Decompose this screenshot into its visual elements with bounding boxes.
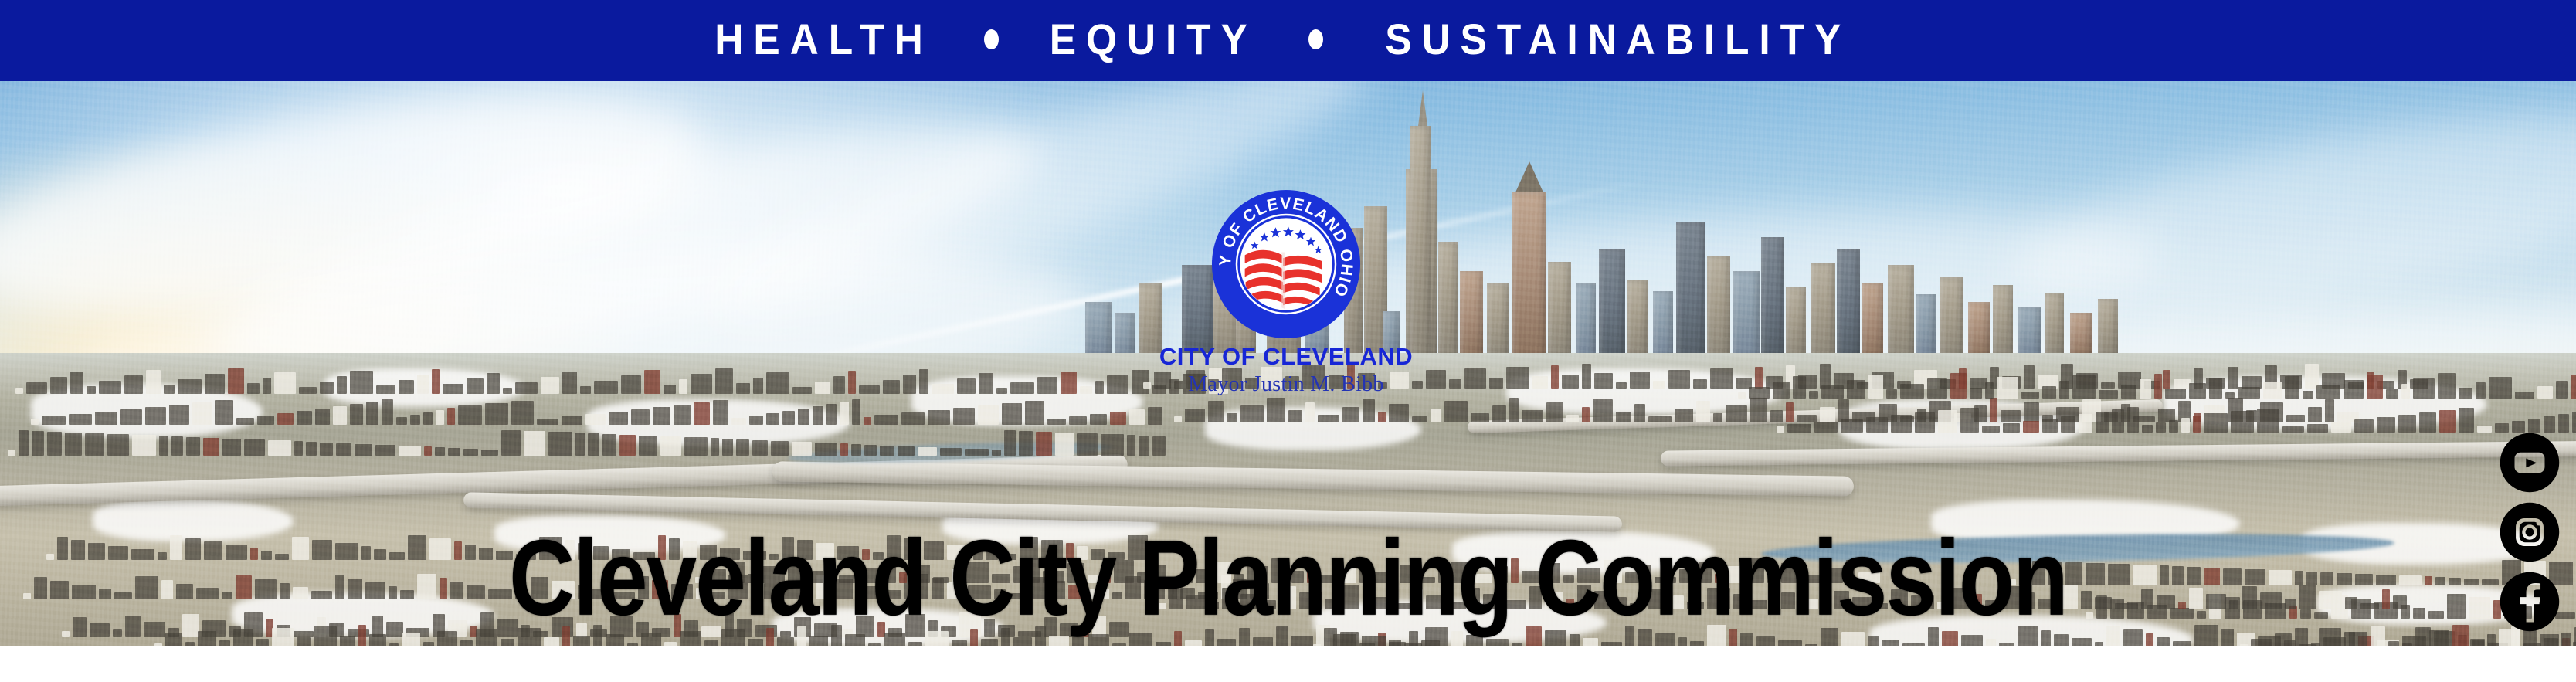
building-block xyxy=(1713,413,1722,422)
building-block xyxy=(1077,433,1098,456)
building xyxy=(1599,249,1625,358)
building-block xyxy=(2257,409,2279,433)
building-block xyxy=(2157,637,2170,646)
building-block xyxy=(2377,417,2395,433)
building-block xyxy=(992,450,1001,456)
building-block xyxy=(294,441,303,456)
building-block xyxy=(2459,388,2472,399)
building-block xyxy=(562,416,582,425)
building-block xyxy=(1152,436,1166,456)
building-block xyxy=(2512,421,2525,433)
building-block xyxy=(432,369,440,394)
building-block xyxy=(2112,409,2124,433)
building-block xyxy=(463,449,478,456)
building-block xyxy=(1938,410,1957,433)
building-block xyxy=(1668,370,1690,389)
highway xyxy=(772,461,1854,497)
building-block xyxy=(99,381,121,394)
city-of-cleveland-seal-icon: CITY OF CLEVELAND OHIO xyxy=(1211,189,1361,339)
building-block xyxy=(1047,419,1066,425)
building-block xyxy=(782,411,795,425)
building-block xyxy=(771,441,789,456)
social-media-rail xyxy=(2499,433,2561,632)
building-block xyxy=(1738,392,1746,399)
building-block xyxy=(619,435,636,456)
facebook-icon[interactable] xyxy=(2500,572,2560,632)
building-block xyxy=(2344,380,2364,399)
building-block xyxy=(222,439,241,456)
building-block xyxy=(1546,402,1563,422)
city-of-cleveland-logo[interactable]: CITY OF CLEVELAND OHIO xyxy=(1016,189,1556,397)
building-block xyxy=(1886,389,1897,399)
building-block xyxy=(1522,410,1543,422)
building-block xyxy=(1139,436,1149,456)
building-block xyxy=(594,381,618,394)
building-block xyxy=(928,410,950,425)
building-block xyxy=(602,434,616,456)
building-block xyxy=(424,446,432,456)
building-block xyxy=(2285,376,2299,399)
building-block xyxy=(2181,418,2190,433)
building-block xyxy=(953,408,975,425)
building-block xyxy=(2127,407,2139,433)
building-block xyxy=(169,405,189,425)
building-block xyxy=(766,372,789,394)
building-block xyxy=(2099,390,2118,399)
building-block xyxy=(2204,413,2228,433)
instagram-icon[interactable] xyxy=(2500,502,2560,562)
logo-mayor-line: Mayor Justin M. Bibb xyxy=(1016,373,1556,397)
building xyxy=(1968,302,1990,358)
building-block xyxy=(813,406,823,425)
building-block xyxy=(1227,413,1237,422)
building xyxy=(1916,294,1936,358)
building-block xyxy=(2495,423,2509,433)
building-block xyxy=(501,430,521,456)
building-block xyxy=(2402,636,2426,646)
building-block xyxy=(840,402,849,425)
building-block xyxy=(1866,417,1888,433)
building-block xyxy=(919,369,928,394)
building-block xyxy=(2072,375,2096,399)
building-block xyxy=(120,409,142,425)
building-block xyxy=(1240,405,1264,422)
building-block xyxy=(1915,412,1935,433)
building-block xyxy=(903,375,916,394)
building-block xyxy=(236,418,254,425)
building xyxy=(1993,285,2013,358)
building-block xyxy=(1471,413,1489,422)
building-block xyxy=(1653,381,1665,389)
building-block xyxy=(1148,407,1162,425)
building-block xyxy=(70,372,83,394)
building-block xyxy=(417,375,429,394)
building-block xyxy=(2558,414,2569,433)
building-block xyxy=(2459,408,2474,433)
building-block xyxy=(2561,633,2571,646)
building xyxy=(2045,293,2064,358)
building-block xyxy=(350,371,373,394)
building-block xyxy=(2146,633,2153,646)
building-block xyxy=(749,416,763,425)
building-block xyxy=(580,386,591,394)
building xyxy=(1576,283,1596,358)
building xyxy=(2018,307,2041,358)
building-block xyxy=(932,384,954,394)
building-block xyxy=(1318,415,1339,422)
building-block xyxy=(1217,639,1236,646)
building-block xyxy=(748,639,763,646)
building-block xyxy=(979,373,993,394)
building-block xyxy=(864,445,877,456)
building-block xyxy=(2251,639,2272,646)
building xyxy=(2098,299,2118,358)
building-block xyxy=(1749,387,1770,399)
building-block xyxy=(1696,401,1710,422)
building-block xyxy=(306,442,317,456)
building xyxy=(1940,277,1963,358)
building-block xyxy=(268,440,291,456)
building-block xyxy=(833,376,845,394)
building-block xyxy=(1185,409,1205,422)
building-block xyxy=(1174,416,1182,422)
building-block xyxy=(2537,386,2553,399)
building-block xyxy=(244,439,265,456)
building-block xyxy=(1389,404,1409,422)
building-block xyxy=(2303,391,2313,399)
building-block xyxy=(753,378,763,394)
building-block xyxy=(752,440,768,456)
building-block xyxy=(2140,379,2151,399)
building-block xyxy=(435,447,445,456)
building-block xyxy=(981,639,998,646)
building-block xyxy=(333,406,347,425)
building xyxy=(1627,280,1648,358)
building-block xyxy=(501,639,514,646)
neighborhood-block-row xyxy=(1738,373,2576,399)
building-block xyxy=(674,405,691,425)
building-block xyxy=(2079,414,2092,433)
building xyxy=(1837,249,1860,358)
building-block xyxy=(713,400,728,425)
building-block xyxy=(1509,398,1519,422)
building-block xyxy=(965,449,989,456)
building-block xyxy=(1305,402,1315,422)
building-block xyxy=(792,442,812,456)
building-block xyxy=(2571,375,2576,399)
building-block xyxy=(458,405,482,425)
building-block xyxy=(694,402,710,425)
building-block xyxy=(26,382,47,394)
building-block xyxy=(1582,364,1591,389)
building-block xyxy=(164,385,175,394)
building-block xyxy=(2156,422,2166,433)
building-block xyxy=(684,437,708,456)
building-block xyxy=(1814,422,1838,433)
building-block xyxy=(320,443,333,456)
building-block xyxy=(447,408,455,425)
building-block xyxy=(2096,412,2109,433)
building-block xyxy=(165,633,182,646)
building-block xyxy=(1927,378,1947,399)
building-block xyxy=(1129,409,1145,425)
building-block xyxy=(1486,639,1509,646)
building-block xyxy=(1363,399,1375,422)
building-block xyxy=(679,379,687,394)
building-block xyxy=(631,409,650,425)
building-block xyxy=(1090,414,1107,425)
building-block xyxy=(2367,375,2383,399)
building-block xyxy=(898,446,915,456)
building-block xyxy=(2142,425,2153,433)
building-block xyxy=(1253,637,1273,646)
building-block xyxy=(2193,416,2201,433)
building-block xyxy=(320,382,334,394)
building-block xyxy=(2059,381,2069,399)
building-block xyxy=(1950,373,1967,399)
building-block xyxy=(2021,392,2039,399)
youtube-icon[interactable] xyxy=(2500,433,2560,493)
building-block xyxy=(340,636,355,646)
building-block xyxy=(315,409,330,425)
building-block xyxy=(1208,401,1224,422)
building-block xyxy=(1726,405,1747,422)
building-block xyxy=(171,436,183,456)
building-block xyxy=(978,405,999,425)
building-block xyxy=(1960,408,1979,433)
building xyxy=(1862,283,1883,358)
building-block xyxy=(31,419,39,425)
building-block xyxy=(277,413,294,425)
building-block xyxy=(2282,426,2304,433)
building-block xyxy=(731,418,746,425)
building-block xyxy=(1634,404,1645,422)
hero-banner: CITY OF CLEVELAND OHIO xyxy=(0,81,2576,646)
building-block xyxy=(792,387,812,394)
building-block xyxy=(1793,376,1806,399)
building-block xyxy=(541,377,559,394)
building-block xyxy=(2121,385,2136,399)
dot-separator-icon xyxy=(1308,29,1323,49)
building-block xyxy=(1389,640,1401,646)
building-block xyxy=(402,633,420,646)
building-block xyxy=(1594,373,1613,389)
building-block xyxy=(124,375,143,394)
building-block xyxy=(2323,637,2346,646)
building-block xyxy=(548,432,572,456)
building-block xyxy=(42,416,66,425)
building-block xyxy=(1004,430,1016,456)
building-block xyxy=(1773,382,1790,399)
building-block xyxy=(852,399,860,425)
building-block xyxy=(263,378,271,394)
building-block xyxy=(2275,633,2292,646)
building-block xyxy=(257,416,274,425)
building-block xyxy=(575,433,585,456)
building-block xyxy=(146,370,161,394)
building-block xyxy=(2413,378,2435,399)
building-block xyxy=(186,437,200,456)
building-block xyxy=(544,637,559,646)
building-block xyxy=(1675,409,1693,422)
building-block xyxy=(777,637,794,646)
building-block xyxy=(2263,382,2282,399)
building-block xyxy=(1582,407,1590,422)
building-block xyxy=(436,410,444,425)
building xyxy=(2070,313,2092,358)
building-block xyxy=(19,430,29,456)
building-block xyxy=(8,450,15,456)
page-title: Cleveland City Planning Commission xyxy=(0,524,2576,632)
tagline-bar: HEALTH EQUITY SUSTAINABILITY xyxy=(0,0,2576,81)
building-block xyxy=(588,433,599,456)
building-block xyxy=(2042,419,2058,433)
building-block xyxy=(2401,384,2410,399)
terminal-tower-spire xyxy=(1418,90,1427,126)
building-block xyxy=(369,634,386,646)
key-tower-peak xyxy=(1515,161,1543,192)
building-block xyxy=(2556,381,2568,399)
building-block xyxy=(1710,368,1733,389)
building-block xyxy=(1444,401,1468,422)
neighborhood-block-row xyxy=(1777,407,2576,433)
building-block xyxy=(503,388,512,394)
building-block xyxy=(1013,637,1032,646)
building-block xyxy=(350,404,363,425)
building-block xyxy=(2439,410,2456,433)
tagline-word-sustainability: SUSTAINABILITY xyxy=(1385,18,1851,61)
building-block xyxy=(639,436,657,456)
building-block xyxy=(2489,377,2512,399)
building-block xyxy=(957,378,976,394)
building-block xyxy=(1693,379,1707,389)
building-block xyxy=(585,414,606,425)
building-block xyxy=(159,436,168,456)
building-block xyxy=(2472,640,2484,646)
highway-ramp xyxy=(1661,440,2576,466)
building-block xyxy=(1492,405,1506,422)
building-block xyxy=(996,388,1007,394)
building-block xyxy=(1841,419,1863,433)
building-block xyxy=(396,417,407,425)
building-block xyxy=(203,438,219,456)
building-block xyxy=(437,631,457,646)
building-block xyxy=(1583,638,1598,646)
building-block xyxy=(336,443,351,456)
building-block xyxy=(798,409,809,425)
tagline-word-health: HEALTH xyxy=(714,18,932,61)
building-block xyxy=(65,433,82,456)
building-block xyxy=(256,639,269,646)
building-block xyxy=(815,382,830,394)
building-block xyxy=(691,374,712,394)
building-block xyxy=(399,446,421,456)
building-block xyxy=(228,368,244,394)
building-block xyxy=(1821,385,1844,399)
building-block xyxy=(880,446,894,456)
building-block xyxy=(2354,419,2374,433)
building-block xyxy=(562,372,577,394)
building-block xyxy=(2349,632,2367,646)
building-block xyxy=(722,439,733,456)
building-block xyxy=(2487,634,2496,646)
building-block xyxy=(1002,403,1022,425)
building-block xyxy=(423,412,433,425)
building-block xyxy=(487,373,500,394)
building-block xyxy=(537,419,558,425)
building-block xyxy=(132,435,156,456)
building-block xyxy=(1127,435,1135,456)
building-block xyxy=(32,431,44,456)
building-block xyxy=(399,380,414,394)
building-block xyxy=(952,640,967,646)
building-block xyxy=(1678,637,1687,646)
building-block xyxy=(2398,415,2416,433)
building-block xyxy=(1616,382,1627,389)
building-block xyxy=(711,438,719,456)
building-block xyxy=(1750,398,1767,422)
building-block xyxy=(2429,630,2449,646)
building-block xyxy=(1101,434,1124,456)
building-block xyxy=(1378,412,1386,422)
building-block xyxy=(826,404,837,425)
building-block xyxy=(1630,372,1650,389)
tagline-inner: HEALTH EQUITY SUSTAINABILITY xyxy=(705,18,1871,61)
building-block xyxy=(219,640,230,646)
building-block xyxy=(448,448,460,456)
building-block xyxy=(1593,399,1613,422)
building-block xyxy=(1185,640,1202,646)
building-block xyxy=(2544,416,2555,433)
building-block xyxy=(2572,412,2576,433)
building-block xyxy=(848,371,856,394)
page-root: HEALTH EQUITY SUSTAINABILITY xyxy=(0,0,2576,682)
building-block xyxy=(1809,391,1818,399)
building-block xyxy=(376,385,395,394)
building-block xyxy=(2386,389,2398,399)
building-block xyxy=(443,384,463,394)
building-block xyxy=(2438,373,2456,399)
dot-separator-icon xyxy=(984,29,999,49)
building xyxy=(1733,271,1760,358)
building-block xyxy=(481,450,498,456)
building-block xyxy=(1778,640,1802,646)
building-block xyxy=(1891,415,1912,433)
building-block xyxy=(1882,640,1899,646)
building-block xyxy=(485,403,508,425)
building-block xyxy=(1777,426,1784,433)
building-block xyxy=(715,368,733,394)
building-block xyxy=(2544,638,2558,646)
building-block xyxy=(1412,416,1427,422)
building-block xyxy=(299,387,317,394)
neighborhood-block-row xyxy=(31,399,1162,425)
building xyxy=(1653,291,1673,358)
building-block xyxy=(2231,411,2254,433)
building-block xyxy=(736,383,750,394)
building-block xyxy=(511,401,534,425)
building-block xyxy=(2476,382,2486,399)
building-block xyxy=(2165,389,2186,399)
building-block xyxy=(47,432,62,456)
building-block xyxy=(87,386,96,394)
building-block xyxy=(859,385,880,394)
building-block xyxy=(1986,639,1996,646)
building xyxy=(1676,222,1705,358)
building-block xyxy=(864,417,871,425)
building-block xyxy=(840,443,848,456)
building-block xyxy=(297,637,311,646)
